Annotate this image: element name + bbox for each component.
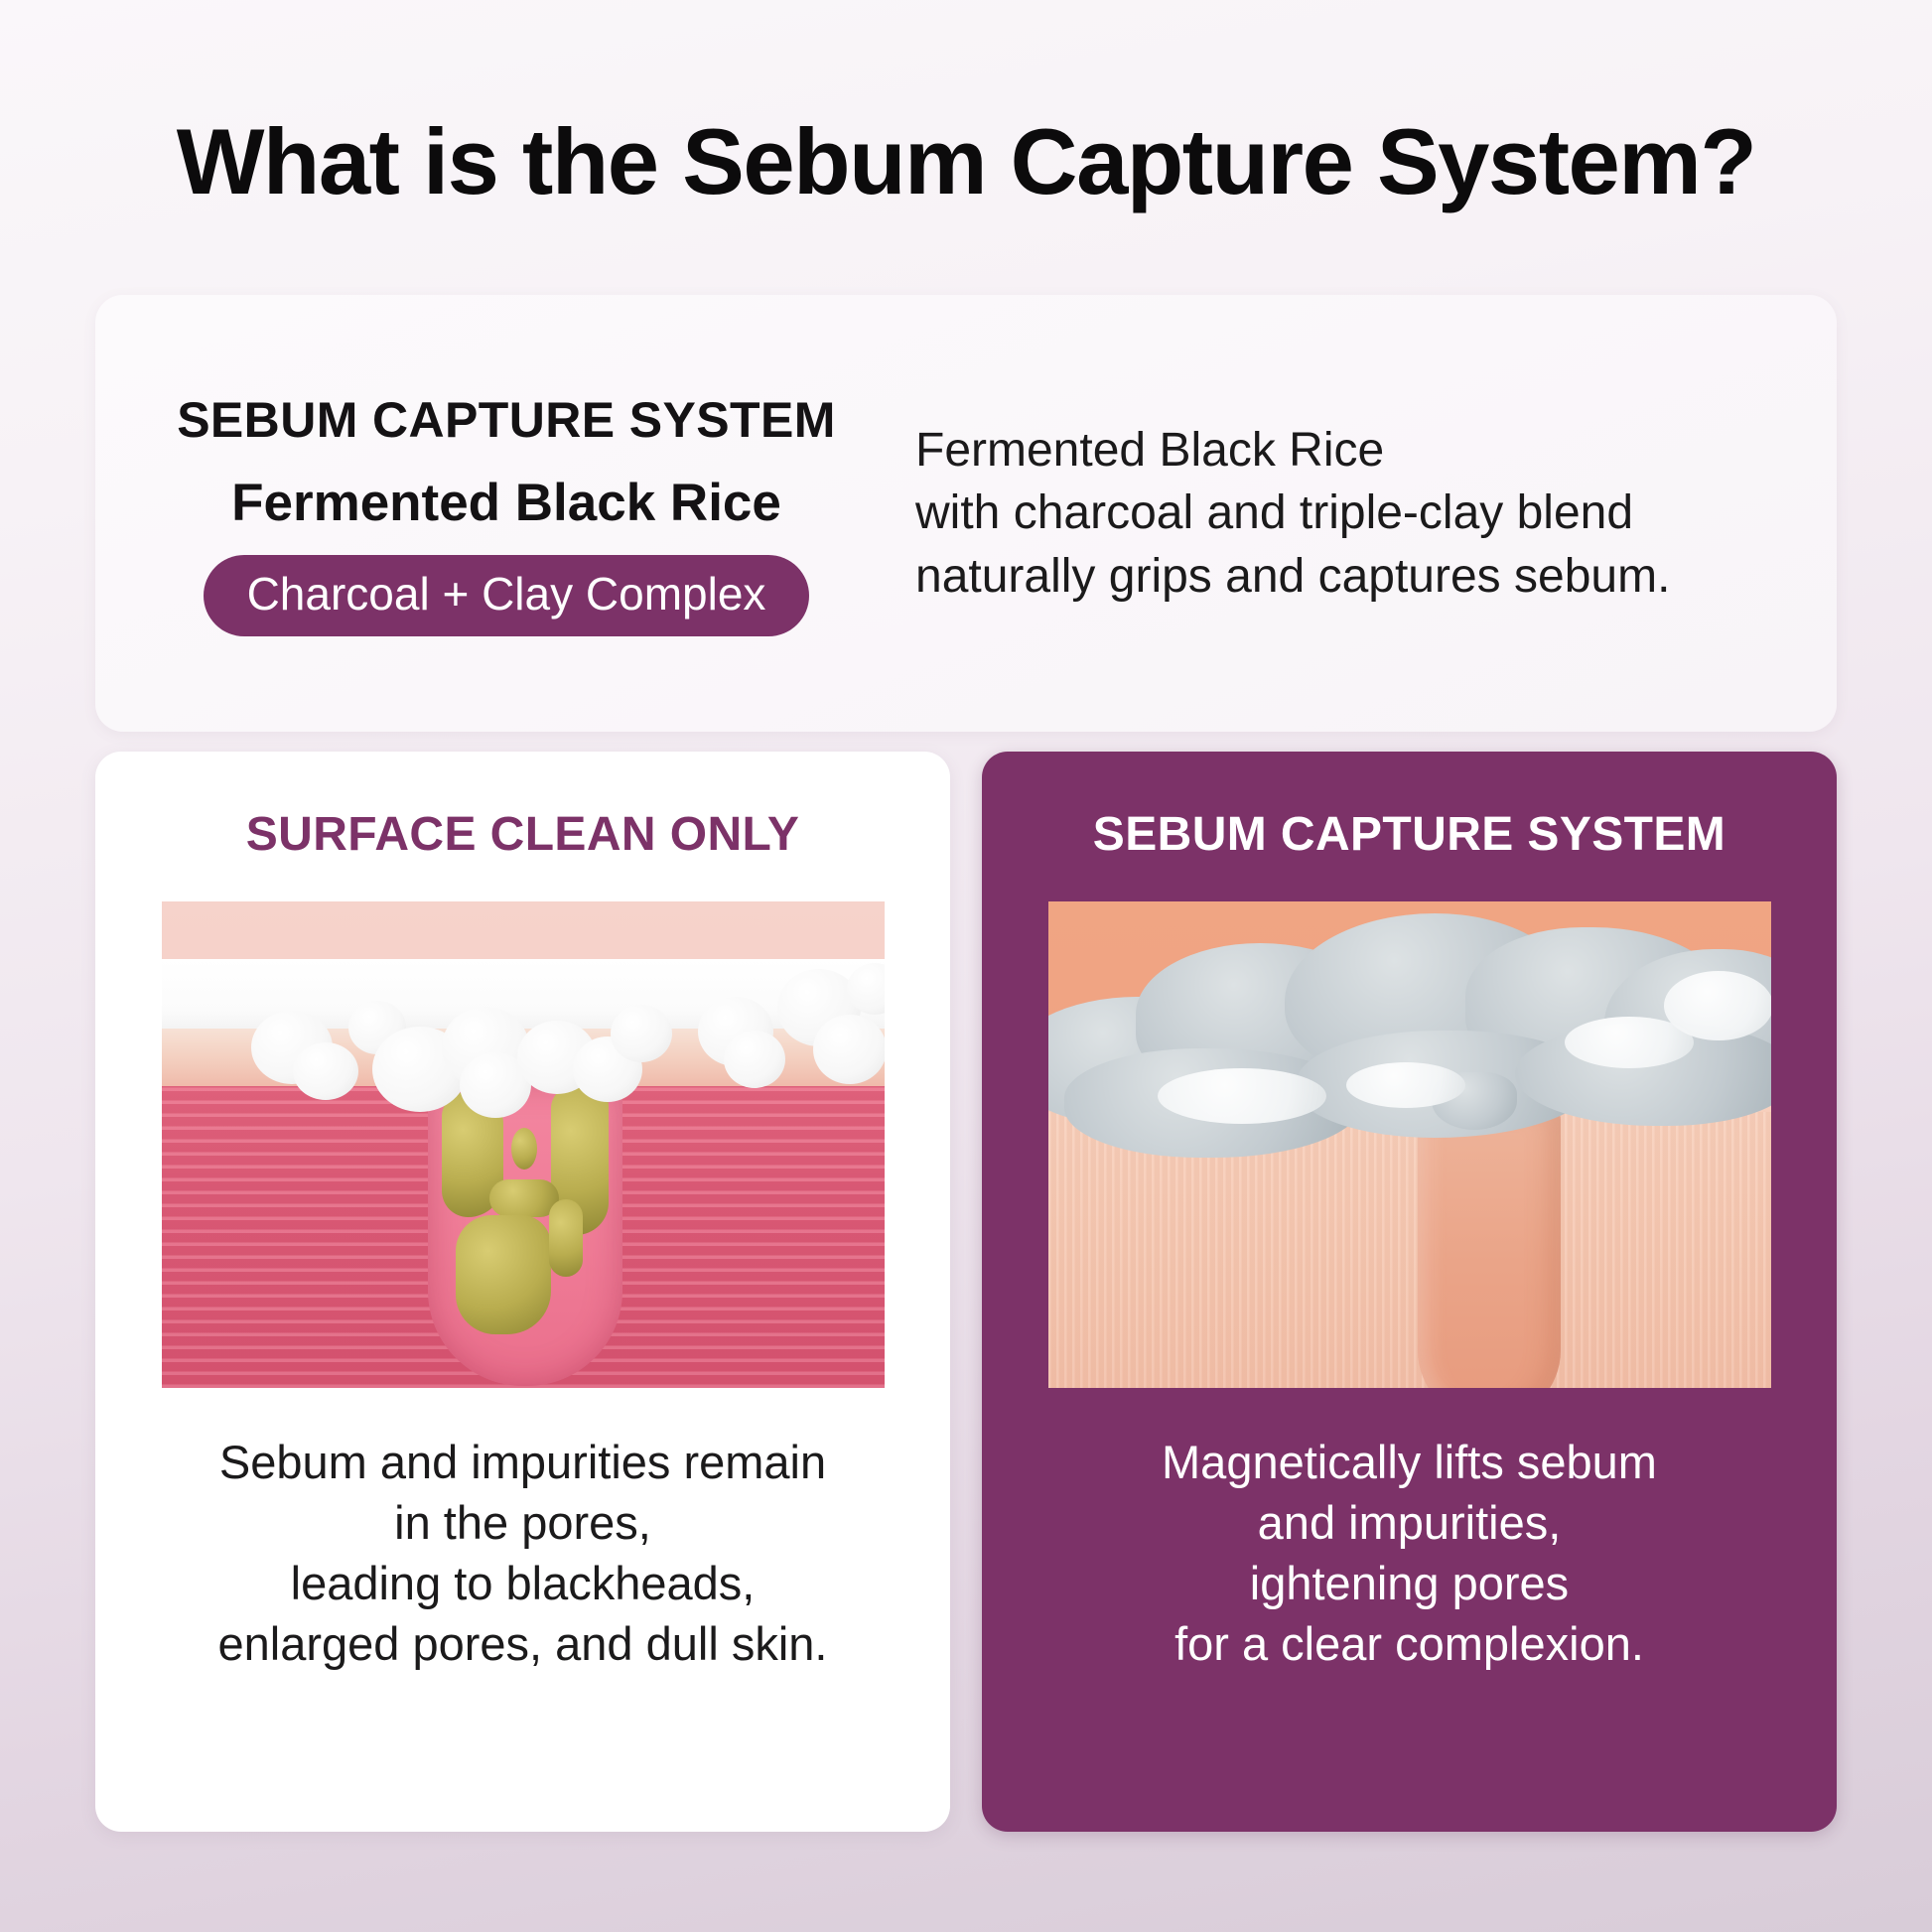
caption-line: in the pores,	[217, 1492, 827, 1553]
sebum-capture-heading: SEBUM CAPTURE SYSTEM	[1093, 807, 1725, 862]
caption-line: Magnetically lifts sebum	[1162, 1432, 1657, 1492]
clay-highlight	[1346, 1062, 1465, 1108]
ingredient-description-line-2: with charcoal and triple-clay blend	[915, 482, 1797, 544]
sebum-plug	[549, 1199, 583, 1277]
clay-highlight	[1664, 971, 1771, 1040]
comparison-card-sebum-capture: SEBUM CAPTURE SYSTEM	[982, 752, 1837, 1832]
clean-pore-illustration	[1048, 901, 1771, 1388]
caption-line: leading to blackheads,	[217, 1553, 827, 1613]
comparison-card-surface-clean: SURFACE CLEAN ONLY	[95, 752, 950, 1832]
caption-line: and impurities,	[1162, 1492, 1657, 1553]
clean-pore-cavity	[1418, 1106, 1561, 1388]
ingredient-card-left: SEBUM CAPTURE SYSTEM Fermented Black Ric…	[95, 391, 880, 636]
surface-clean-caption: Sebum and impurities remain in the pores…	[217, 1432, 827, 1674]
caption-line: Sebum and impurities remain	[217, 1432, 827, 1492]
foam-bubble	[724, 1031, 785, 1088]
foam-bubble	[611, 1005, 672, 1062]
sebum-plug	[511, 1128, 537, 1170]
sebum-capture-caption: Magnetically lifts sebum and impurities,…	[1162, 1432, 1657, 1674]
caption-line: for a clear complexion.	[1162, 1613, 1657, 1674]
ingredient-name: Fermented Black Rice	[231, 473, 781, 533]
caption-line: enlarged pores, and dull skin.	[217, 1613, 827, 1674]
charcoal-clay-complex-badge: Charcoal + Clay Complex	[204, 555, 810, 636]
sebum-plug	[456, 1215, 551, 1334]
foam-bubble	[293, 1042, 358, 1100]
caption-line: ightening pores	[1162, 1553, 1657, 1613]
ingredient-description-line-1: Fermented Black Rice	[915, 419, 1797, 482]
sebum-plug	[489, 1179, 559, 1217]
comparison-row: SURFACE CLEAN ONLY	[95, 752, 1837, 1832]
foam-bubble	[813, 1015, 885, 1084]
clogged-pore-illustration	[162, 901, 885, 1388]
infographic-page: What is the Sebum Capture System? SEBUM …	[0, 0, 1932, 1932]
surface-clean-heading: SURFACE CLEAN ONLY	[246, 807, 800, 862]
ingredient-card: SEBUM CAPTURE SYSTEM Fermented Black Ric…	[95, 295, 1837, 732]
clay-highlight	[1158, 1068, 1326, 1124]
ingredient-eyebrow: SEBUM CAPTURE SYSTEM	[177, 391, 836, 449]
ingredient-card-description: Fermented Black Rice with charcoal and t…	[880, 419, 1837, 608]
ingredient-description-line-3: naturally grips and captures sebum.	[915, 545, 1797, 608]
page-title: What is the Sebum Capture System?	[0, 111, 1932, 212]
